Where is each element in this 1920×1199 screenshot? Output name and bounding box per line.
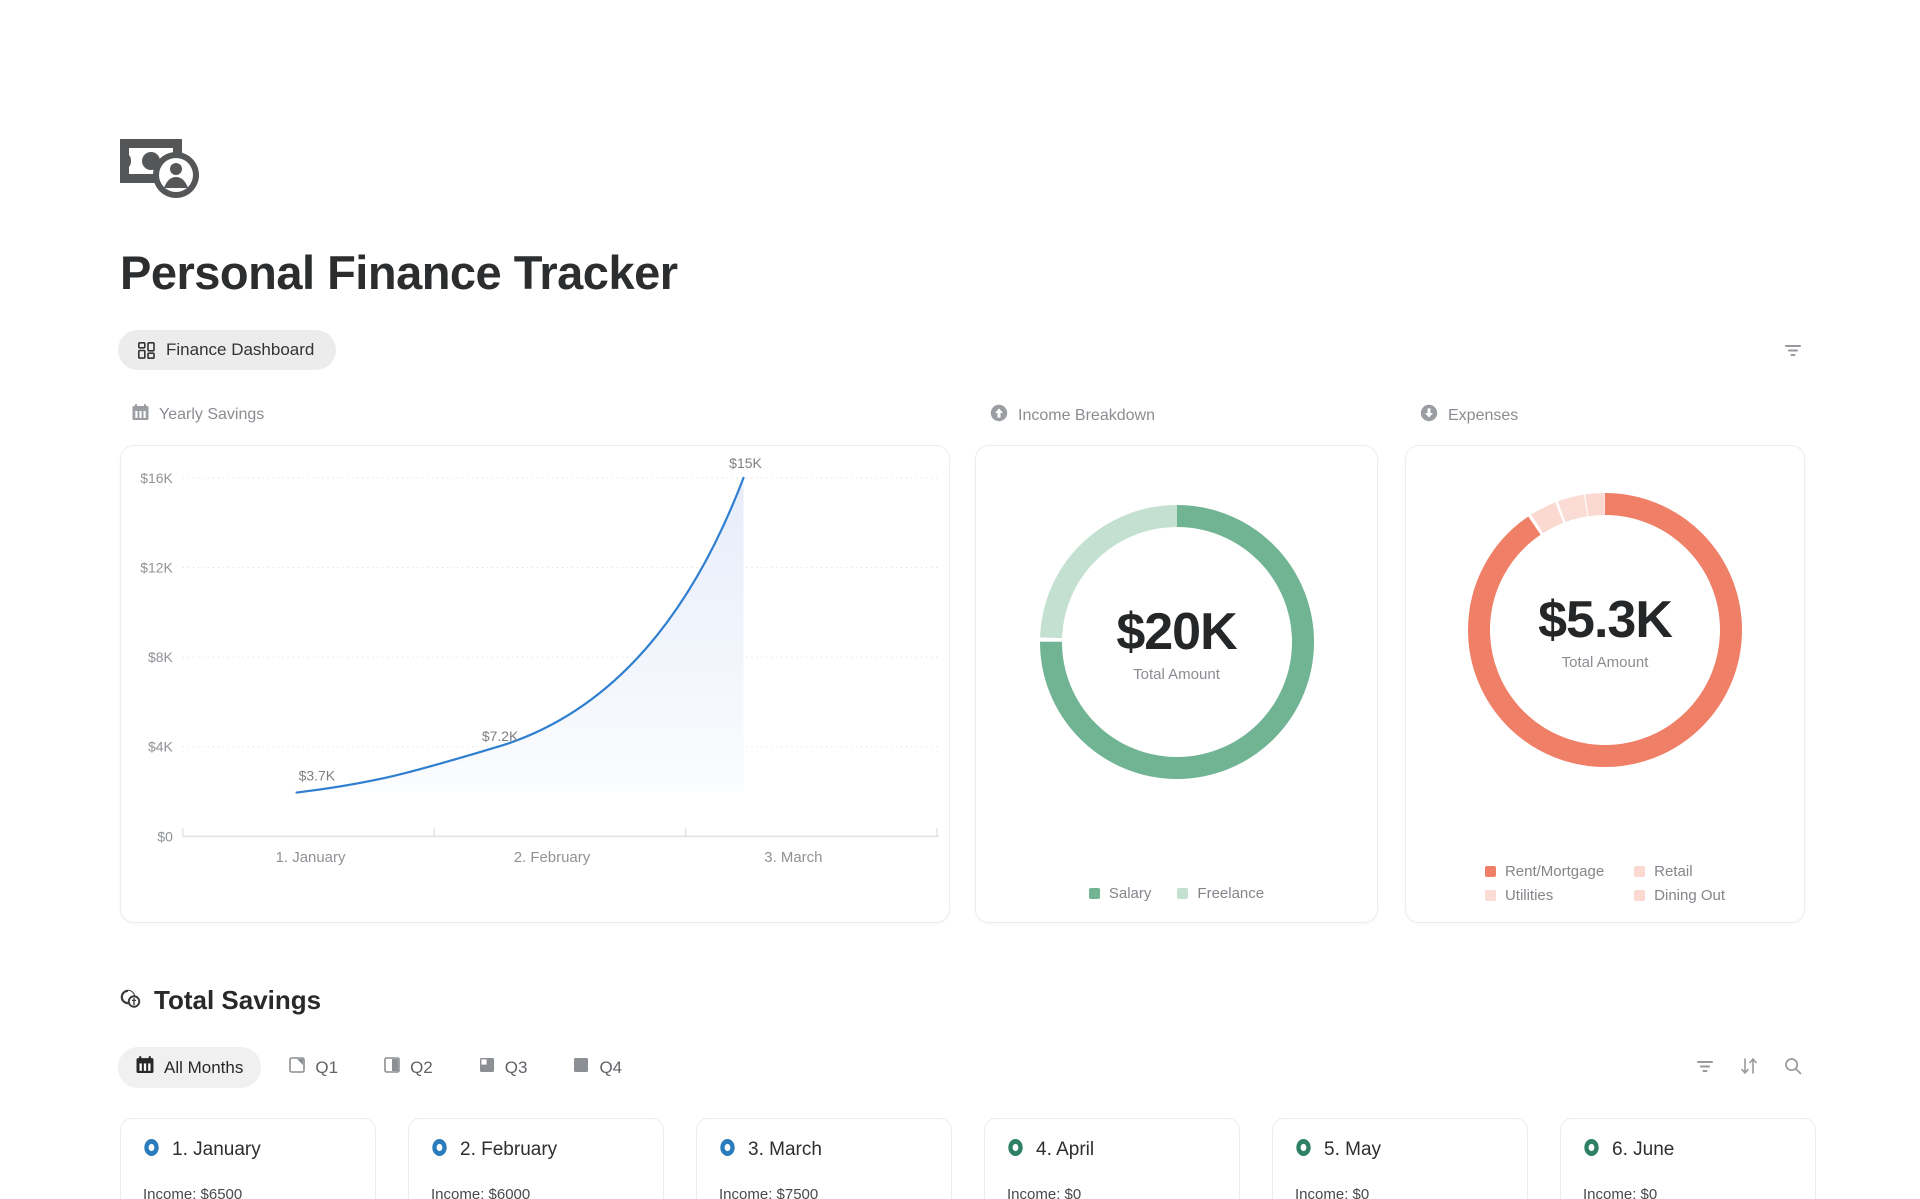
legend-item[interactable]: Retail [1634, 863, 1725, 880]
filter-q2[interactable]: Q2 [366, 1048, 451, 1087]
expenses-legend: Rent/Mortgage Retail Utilities Dining Ou… [1406, 863, 1804, 904]
filter-all-months[interactable]: All Months [118, 1047, 261, 1088]
month-income: Income: $7500 [719, 1186, 929, 1199]
arrow-down-circle-icon [1420, 404, 1438, 427]
expenses-donut-center: $5.3K Total Amount [1455, 480, 1755, 780]
pie-q1-icon [289, 1057, 305, 1078]
month-card[interactable]: 1. January Income: $6500 [120, 1118, 376, 1199]
legend-label: Rent/Mortgage [1505, 863, 1604, 880]
month-title: 5. May [1324, 1139, 1381, 1161]
income-breakdown-card: $20K Total Amount Salary Freelance [975, 445, 1378, 923]
svg-text:$0: $0 [157, 828, 173, 844]
filter-label: Q1 [315, 1058, 338, 1078]
legend-item[interactable]: Dining Out [1634, 887, 1725, 904]
income-donut-chart: $20K Total Amount [1027, 492, 1327, 792]
legend-item[interactable]: Utilities [1485, 887, 1604, 904]
legend-label: Dining Out [1654, 887, 1725, 904]
dashboard-toolbar [1783, 340, 1803, 360]
svg-text:$7.2K: $7.2K [482, 728, 519, 744]
month-title: 6. June [1612, 1139, 1674, 1161]
app-logo [120, 135, 220, 201]
panel-label-yearly-savings: Yearly Savings [132, 404, 264, 426]
svg-text:$4K: $4K [148, 739, 174, 755]
month-status-icon [1583, 1138, 1600, 1162]
filter-q4[interactable]: Q4 [555, 1048, 640, 1087]
expenses-donut-wrap: $5.3K Total Amount [1406, 460, 1804, 800]
month-income: Income: $0 [1295, 1186, 1505, 1199]
panel-label-text: Yearly Savings [159, 406, 264, 424]
filter-icon[interactable] [1783, 340, 1803, 360]
month-card[interactable]: 4. April Income: $0 [984, 1118, 1240, 1199]
coins-icon [120, 985, 142, 1016]
income-donut-center: $20K Total Amount [1027, 492, 1327, 792]
panel-label-income-breakdown: Income Breakdown [990, 404, 1155, 427]
expenses-donut-chart: $5.3K Total Amount [1455, 480, 1755, 780]
calendar-chart-icon [132, 404, 149, 426]
months-toolbar [1695, 1056, 1803, 1076]
month-status-icon [719, 1138, 736, 1162]
month-status-icon [1295, 1138, 1312, 1162]
legend-swatch [1089, 888, 1100, 899]
svg-text:2. February: 2. February [514, 849, 591, 866]
dashboard-tab-row: Finance Dashboard [118, 330, 1803, 370]
month-cards-list: 1. January Income: $6500 2. February Inc… [120, 1118, 1816, 1199]
expenses-total-label: Total Amount [1562, 654, 1649, 671]
legend-swatch [1485, 890, 1496, 901]
legend-label: Salary [1109, 885, 1152, 902]
month-card[interactable]: 2. February Income: $6000 [408, 1118, 664, 1199]
filter-icon[interactable] [1695, 1056, 1715, 1076]
section-heading-text: Total Savings [154, 985, 321, 1016]
month-title: 2. February [460, 1139, 557, 1161]
month-card[interactable]: 5. May Income: $0 [1272, 1118, 1528, 1199]
filter-q3[interactable]: Q3 [461, 1048, 546, 1087]
svg-text:3. March: 3. March [764, 849, 822, 866]
month-income: Income: $0 [1583, 1186, 1793, 1199]
tab-finance-dashboard[interactable]: Finance Dashboard [118, 330, 336, 370]
sort-icon[interactable] [1739, 1056, 1759, 1076]
legend-swatch [1177, 888, 1188, 899]
month-title: 3. March [748, 1139, 822, 1161]
filter-q1[interactable]: Q1 [271, 1048, 356, 1087]
svg-text:$3.7K: $3.7K [299, 768, 336, 784]
svg-text:$8K: $8K [148, 649, 174, 665]
month-income: Income: $6000 [431, 1186, 641, 1199]
expenses-total-value: $5.3K [1538, 590, 1672, 650]
search-icon[interactable] [1783, 1056, 1803, 1076]
legend-swatch [1634, 890, 1645, 901]
svg-text:$15K: $15K [729, 455, 762, 471]
total-savings-heading: Total Savings [120, 985, 321, 1016]
legend-swatch [1634, 866, 1645, 877]
months-filter-bar: All Months Q1 Q2 [118, 1047, 1803, 1087]
month-card[interactable]: 6. June Income: $0 [1560, 1118, 1816, 1199]
legend-swatch [1485, 866, 1496, 877]
legend-label: Freelance [1197, 885, 1264, 902]
dashboard-grid-icon [138, 342, 155, 359]
legend-item[interactable]: Freelance [1177, 885, 1264, 902]
panel-label-text: Expenses [1448, 407, 1518, 425]
panel-label-expenses: Expenses [1420, 404, 1518, 427]
month-status-icon [1007, 1138, 1024, 1162]
panel-label-text: Income Breakdown [1018, 407, 1155, 425]
legend-item[interactable]: Rent/Mortgage [1485, 863, 1604, 880]
arrow-up-circle-icon [990, 404, 1008, 427]
page-title: Personal Finance Tracker [120, 247, 678, 299]
income-total-value: $20K [1116, 602, 1236, 662]
income-total-label: Total Amount [1133, 666, 1220, 683]
filter-label: Q4 [599, 1058, 622, 1078]
finance-dashboard-page: Personal Finance Tracker Finance Dashboa… [0, 0, 1920, 1199]
pie-q3-icon [479, 1057, 495, 1078]
svg-text:$16K: $16K [140, 470, 173, 486]
pie-q4-icon [573, 1057, 589, 1078]
svg-text:$12K: $12K [140, 559, 173, 575]
tab-label: Finance Dashboard [166, 340, 314, 360]
filter-label: All Months [164, 1058, 243, 1078]
income-donut-wrap: $20K Total Amount [976, 472, 1377, 812]
month-status-icon [143, 1138, 160, 1162]
month-title: 4. April [1036, 1139, 1094, 1161]
month-income: Income: $6500 [143, 1186, 353, 1199]
month-status-icon [431, 1138, 448, 1162]
legend-item[interactable]: Salary [1089, 885, 1152, 902]
month-title: 1. January [172, 1139, 261, 1161]
calendar-icon [136, 1056, 154, 1079]
pie-q2-icon [384, 1057, 400, 1078]
expenses-card: $5.3K Total Amount Rent/Mortgage Retail … [1405, 445, 1805, 923]
legend-label: Utilities [1505, 887, 1553, 904]
money-person-icon [120, 135, 220, 201]
yearly-savings-chart-card: $16K $12K $8K $4K $0 $3.7K [120, 445, 950, 923]
yearly-savings-line-chart: $16K $12K $8K $4K $0 $3.7K [121, 446, 949, 922]
filter-label: Q2 [410, 1058, 433, 1078]
legend-label: Retail [1654, 863, 1692, 880]
income-legend: Salary Freelance [976, 885, 1377, 902]
month-income: Income: $0 [1007, 1186, 1217, 1199]
month-card[interactable]: 3. March Income: $7500 [696, 1118, 952, 1199]
filter-label: Q3 [505, 1058, 528, 1078]
svg-text:1. January: 1. January [276, 849, 346, 866]
